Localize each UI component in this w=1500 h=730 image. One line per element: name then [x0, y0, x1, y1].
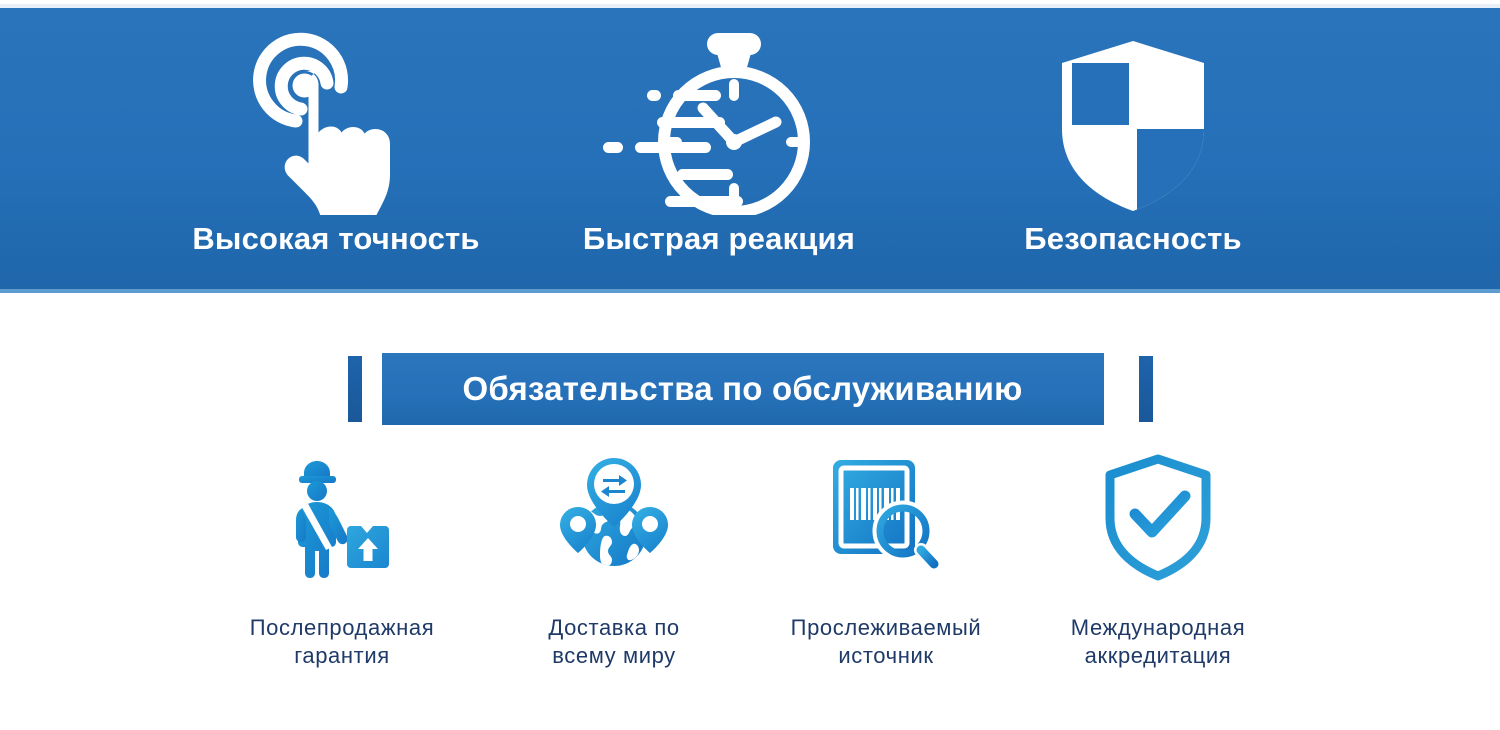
feature-fast-response: Быстрая реакция [512, 22, 926, 289]
globe-pins-exchange-icon [549, 452, 679, 582]
service-label: Доставка по всему миру [548, 614, 679, 670]
section-title-box: Обязательства по обслуживанию [382, 353, 1104, 425]
feature-banner: Высокая точность [0, 4, 1500, 293]
service-item-international-accreditation: Международная аккредитация [1022, 452, 1294, 670]
promo-page: Высокая точность [0, 0, 1500, 730]
section-title-row: Обязательства по обслуживанию [0, 353, 1500, 425]
feature-label: Безопасность [1024, 221, 1241, 257]
service-item-after-sales-warranty: Послепродажная гарантия [206, 452, 478, 670]
delivery-person-box-icon [277, 452, 407, 582]
service-commitment-list: Послепродажная гарантия [0, 452, 1500, 682]
feature-label: Быстрая реакция [583, 221, 855, 257]
feature-banner-items: Высокая точность [160, 8, 1340, 289]
section-title: Обязательства по обслуживанию [463, 370, 1023, 408]
shield-check-icon [1093, 452, 1223, 582]
feature-security: Безопасность [926, 22, 1340, 289]
service-label: Прослеживаемый источник [791, 614, 982, 670]
title-tick-right [1139, 356, 1153, 422]
service-label: Международная аккредитация [1071, 614, 1245, 670]
feature-high-accuracy: Высокая точность [160, 22, 512, 289]
service-item-traceable-source: Прослеживаемый источник [750, 452, 1022, 670]
title-tick-left [348, 356, 362, 422]
service-item-worldwide-shipping: Доставка по всему миру [478, 452, 750, 670]
tap-hand-icon [248, 25, 424, 215]
barcode-magnifier-icon [821, 452, 951, 582]
shield-quartered-icon [1058, 25, 1208, 215]
service-label: Послепродажная гарантия [250, 614, 435, 670]
feature-label: Высокая точность [192, 221, 479, 257]
stopwatch-speed-icon [599, 25, 839, 215]
